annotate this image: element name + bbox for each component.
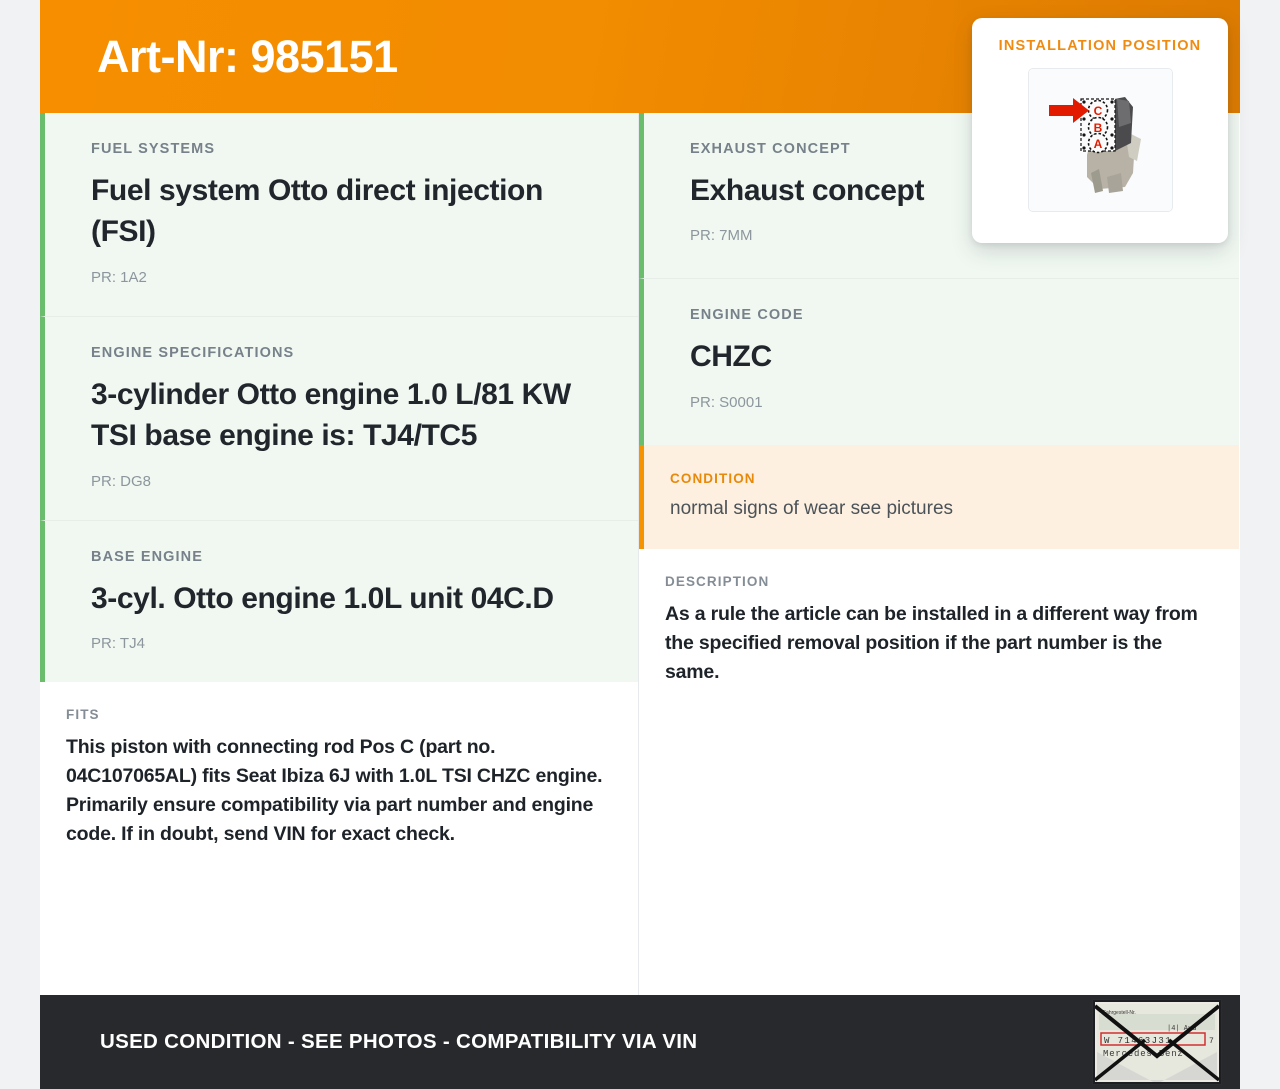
description-block: DESCRIPTION As a rule the article can be…: [639, 549, 1239, 995]
installation-position-thumbnail[interactable]: C B A: [1028, 68, 1173, 212]
fits-text: This piston with connecting rod Pos C (p…: [66, 733, 618, 848]
spec-pr-code: PR: TJ4: [91, 635, 592, 652]
spec-label: ENGINE SPECIFICATIONS: [91, 345, 592, 361]
description-label: DESCRIPTION: [665, 574, 1211, 589]
spec-value: 3-cylinder Otto engine 1.0 L/81 KW TSI b…: [91, 374, 592, 457]
footer-text: USED CONDITION - SEE PHOTOS - COMPATIBIL…: [100, 1030, 697, 1054]
spec-value: CHZC: [690, 336, 1193, 377]
cylinder-label-c: C: [1093, 104, 1102, 118]
spec-card-engine-specifications: ENGINE SPECIFICATIONS 3-cylinder Otto en…: [40, 316, 638, 520]
spec-pr-code: PR: DG8: [91, 473, 592, 490]
svg-text:7: 7: [1209, 1037, 1214, 1046]
spec-card-fuel-systems: FUEL SYSTEMS Fuel system Otto direct inj…: [40, 113, 638, 316]
content-area: FUEL SYSTEMS Fuel system Otto direct inj…: [40, 113, 1240, 995]
page-title: Art-Nr: 985151: [97, 34, 398, 79]
installation-position-title: INSTALLATION POSITION: [972, 38, 1228, 54]
svg-text:Mercedes-Benz: Mercedes-Benz: [1103, 1049, 1184, 1059]
spec-card-base-engine: BASE ENGINE 3-cyl. Otto engine 1.0L unit…: [40, 520, 638, 682]
condition-block: CONDITION normal signs of wear see pictu…: [639, 445, 1239, 550]
spec-label: BASE ENGINE: [91, 549, 592, 565]
spec-label: FUEL SYSTEMS: [91, 141, 592, 157]
spec-label: ENGINE CODE: [690, 307, 1193, 323]
fits-label: FITS: [66, 707, 618, 722]
spec-value: Fuel system Otto direct injection (FSI): [91, 170, 592, 253]
vin-envelope-icon: Fahrgestell-Nr. |4| Aud W 71463J31 7 Mer…: [1092, 999, 1222, 1085]
spec-value: 3-cyl. Otto engine 1.0L unit 04C.D: [91, 578, 592, 619]
right-column: EXHAUST CONCEPT Exhaust concept PR: 7MM …: [639, 113, 1239, 995]
condition-label: CONDITION: [670, 471, 1211, 486]
condition-value: normal signs of wear see pictures: [670, 496, 1211, 522]
description-text: As a rule the article can be installed i…: [665, 600, 1211, 687]
spec-pr-code: PR: S0001: [690, 394, 1193, 411]
vin-envelope-svg: Fahrgestell-Nr. |4| Aud W 71463J31 7 Mer…: [1093, 1000, 1221, 1084]
installation-position-card[interactable]: INSTALLATION POSITION: [972, 18, 1228, 243]
spec-card-engine-code: ENGINE CODE CHZC PR: S0001: [639, 278, 1239, 444]
left-column: FUEL SYSTEMS Fuel system Otto direct inj…: [40, 113, 639, 995]
footer-bar: USED CONDITION - SEE PHOTOS - COMPATIBIL…: [40, 995, 1240, 1089]
engine-diagram-icon: C B A: [1029, 69, 1172, 211]
fits-block: FITS This piston with connecting rod Pos…: [40, 682, 638, 995]
spec-pr-code: PR: 1A2: [91, 269, 592, 286]
cylinder-label-b: B: [1093, 121, 1102, 135]
cylinder-label-a: A: [1093, 137, 1102, 151]
page-root: Art-Nr: 985151 FUEL SYSTEMS Fuel system …: [0, 0, 1280, 1089]
